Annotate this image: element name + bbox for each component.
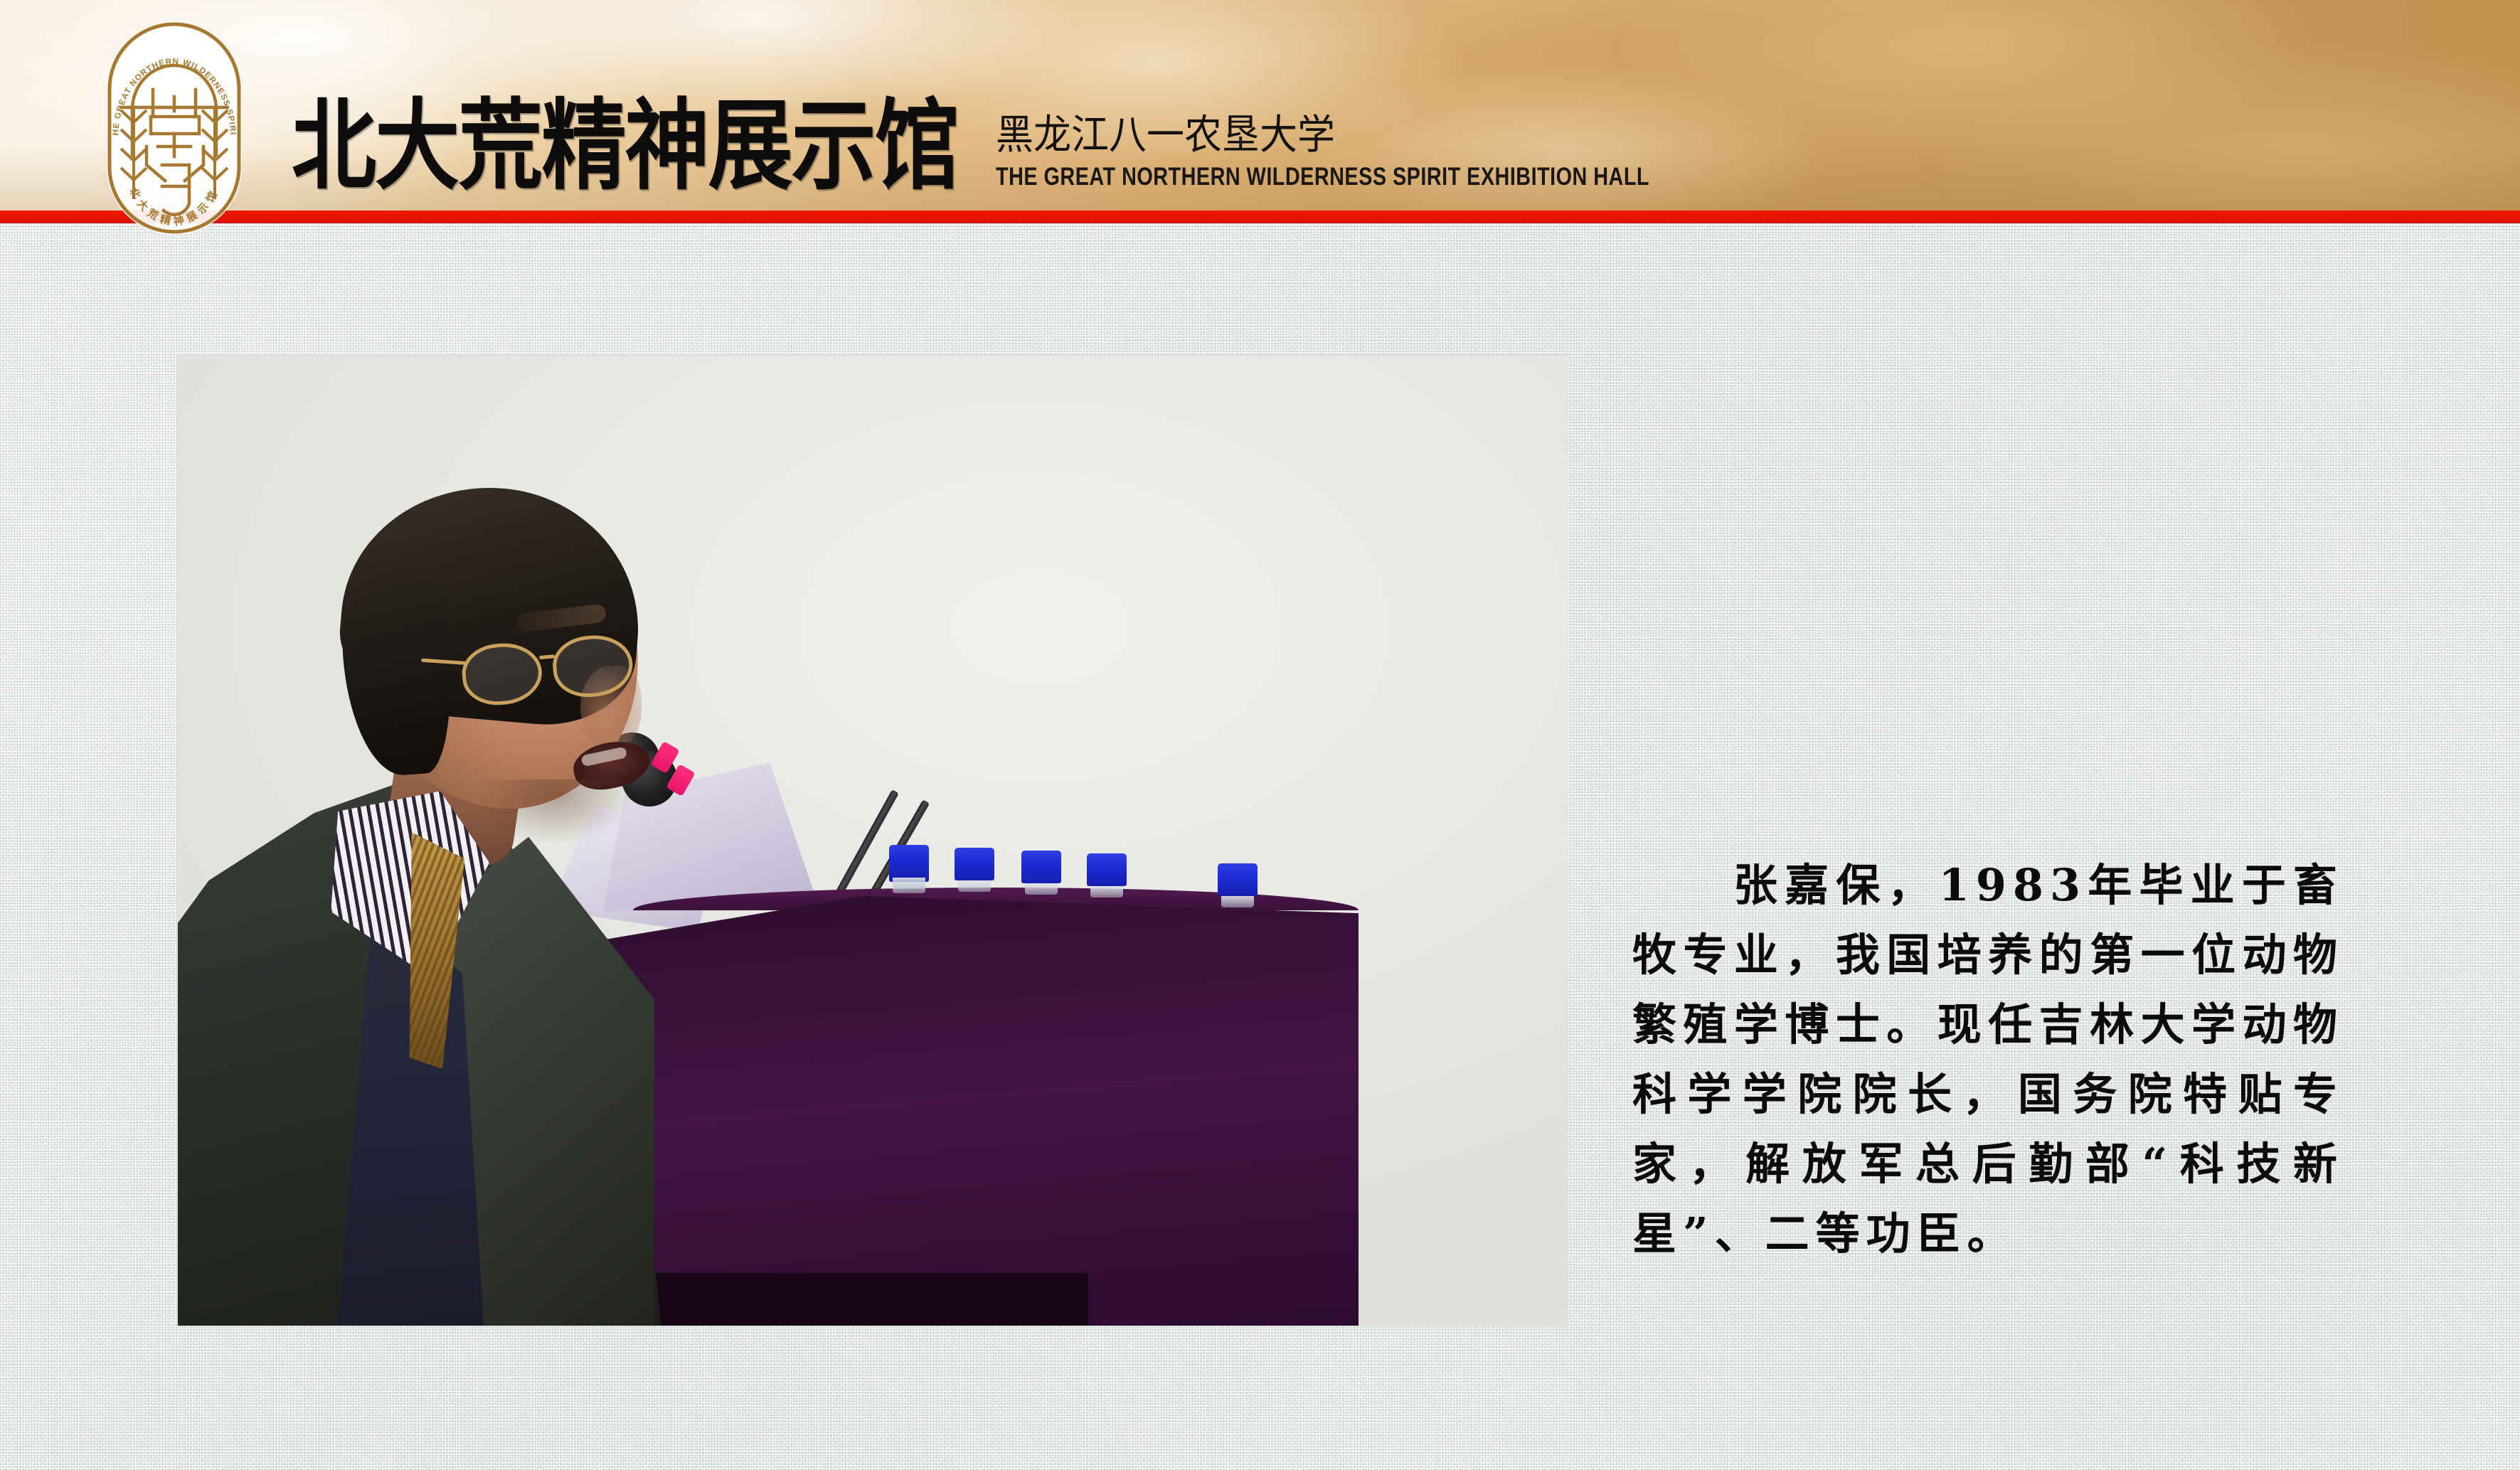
exhibition-hall-logo[interactable]: THE GREAT NORTHERN WILDERNESS SPIRIT 北大荒…	[100, 17, 249, 238]
speaker-chin-shadow	[477, 779, 633, 843]
biography-text: 张嘉保，1983年毕业于畜牧专业，我国培养的第一位动物繁殖学博士。现任吉林大学动…	[1632, 851, 2344, 1269]
institution-block: 黑龙江八一农垦大学 THE GREAT NORTHERN WILDERNESS …	[996, 117, 1698, 199]
speaker-figure	[178, 356, 1568, 1326]
page-title: 北大荒精神展示馆	[292, 97, 958, 199]
institution-name-cn: 黑龙江八一农垦大学	[996, 113, 1335, 157]
eyeglass-lens-left	[459, 640, 544, 708]
eyeglass-bridge	[539, 654, 555, 659]
exhibition-panel: THE GREAT NORTHERN WILDERNESS SPIRIT 北大荒…	[0, 0, 2520, 1470]
header-title-group: 北大荒精神展示馆 黑龙江八一农垦大学 THE GREAT NORTHERN WI…	[292, 43, 1698, 199]
speaker-hair-sideburn	[337, 565, 458, 779]
institution-name-en: THE GREAT NORTHERN WILDERNESS SPIRIT EXH…	[996, 162, 1649, 191]
red-accent-stripe	[0, 211, 2520, 223]
eyeglass-lens-right	[551, 632, 635, 700]
speaker-photograph[interactable]	[178, 356, 1568, 1326]
